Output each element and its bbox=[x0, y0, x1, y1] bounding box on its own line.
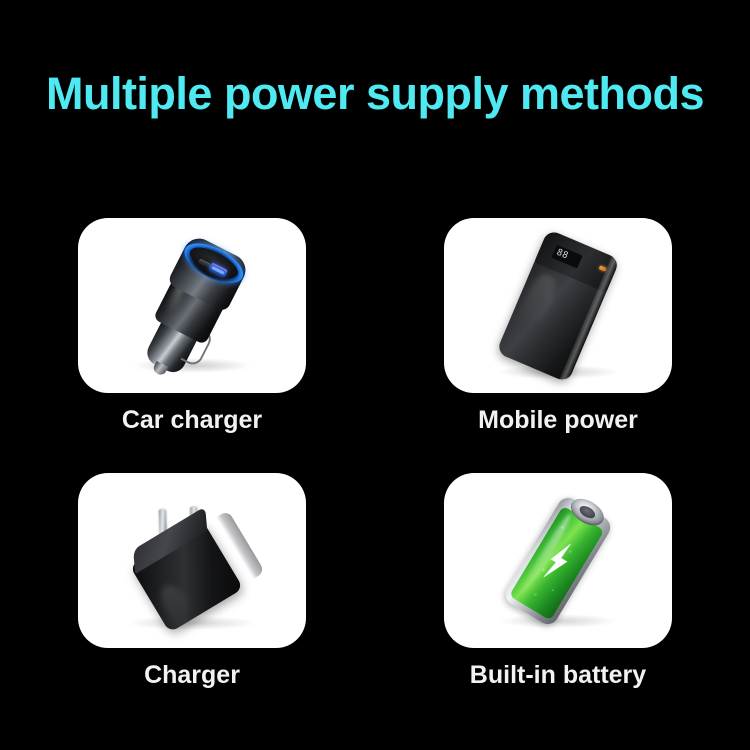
power-bank-lcd-value: 88 bbox=[555, 247, 570, 261]
promo-banner: Multiple power supply methods bbox=[0, 0, 750, 750]
power-method-item-car-charger[interactable]: Car charger bbox=[78, 218, 306, 435]
battery-icon bbox=[444, 473, 672, 648]
power-method-label-mobile-power: Mobile power bbox=[444, 406, 672, 435]
product-card-car-charger[interactable] bbox=[78, 218, 306, 393]
power-method-label-car-charger: Car charger bbox=[78, 406, 306, 435]
power-method-label-charger: Charger bbox=[78, 661, 306, 690]
car-charger-icon bbox=[78, 218, 306, 393]
power-bank-gloss bbox=[508, 270, 562, 350]
power-method-item-mobile-power[interactable]: 88 Mobile power bbox=[444, 218, 672, 435]
power-method-item-built-in-battery[interactable]: Built-in battery bbox=[444, 473, 672, 690]
battery-body bbox=[502, 493, 615, 627]
power-bank-body: 88 bbox=[496, 229, 620, 383]
power-methods-grid: Car charger 88 bbox=[78, 218, 672, 690]
power-bank-lcd-screen: 88 bbox=[551, 244, 582, 268]
page-title: Multiple power supply methods bbox=[0, 68, 750, 120]
power-method-label-built-in-battery: Built-in battery bbox=[444, 661, 672, 690]
wall-charger-body bbox=[117, 487, 267, 634]
wall-charger-icon bbox=[78, 473, 306, 648]
power-bank-icon: 88 bbox=[444, 218, 672, 393]
power-method-item-charger[interactable]: Charger bbox=[78, 473, 306, 690]
product-card-built-in-battery[interactable] bbox=[444, 473, 672, 648]
product-card-charger[interactable] bbox=[78, 473, 306, 648]
product-card-mobile-power[interactable]: 88 bbox=[444, 218, 672, 393]
wall-charger-gloss bbox=[155, 580, 204, 640]
